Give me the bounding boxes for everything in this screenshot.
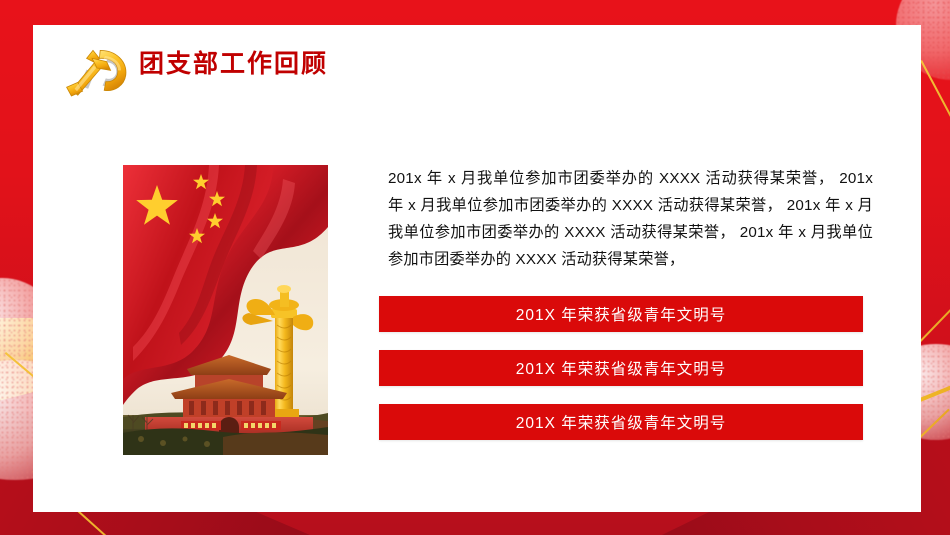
body-paragraph: 201x 年 x 月我单位参加市团委举办的 XXXX 活动获得某荣誉， 201x… [388, 165, 873, 273]
slide-card: 团支部工作回顾 [33, 25, 921, 512]
honor-button-1[interactable]: 201X 年荣获省级青年文明号 [379, 296, 863, 332]
party-emblem-icon [57, 44, 137, 96]
honor-button-list: 201X 年荣获省级青年文明号 201X 年荣获省级青年文明号 201X 年荣获… [379, 296, 863, 440]
honor-button-2[interactable]: 201X 年荣获省级青年文明号 [379, 350, 863, 386]
honor-button-2-label: 201X 年荣获省级青年文明号 [516, 357, 727, 379]
honor-button-3[interactable]: 201X 年荣获省级青年文明号 [379, 404, 863, 440]
honor-button-3-label: 201X 年荣获省级青年文明号 [516, 411, 727, 433]
page-title: 团支部工作回顾 [139, 52, 328, 77]
honor-button-1-label: 201X 年荣获省级青年文明号 [516, 303, 727, 325]
tiananmen-flag-photo [123, 165, 328, 455]
slide-header: 团支部工作回顾 [33, 25, 921, 103]
